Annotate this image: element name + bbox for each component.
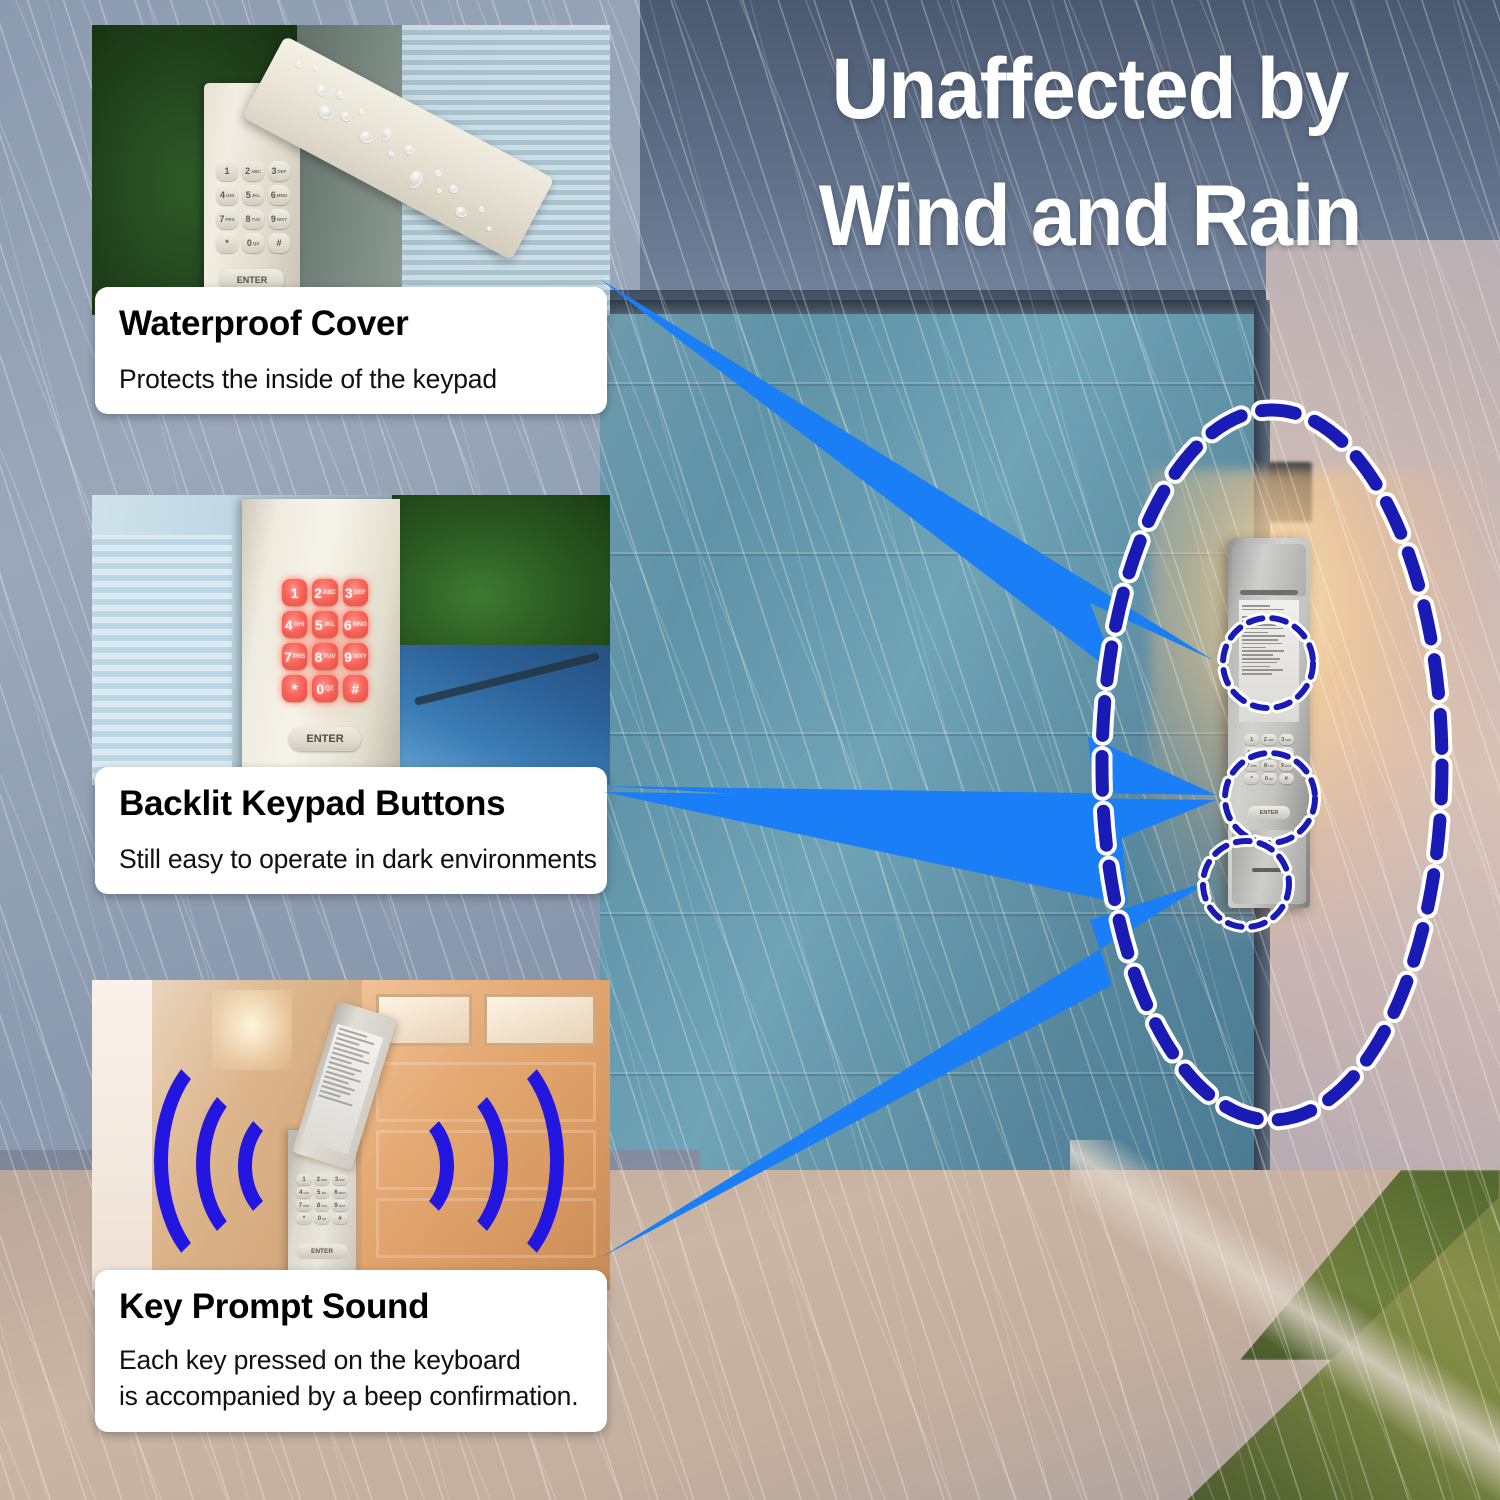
keypad-key-1: 1 [1244,734,1259,745]
hero-keypad-lower-housing [1232,830,1306,904]
background-garage-door [92,535,232,785]
headline-line-2: Wind and Rain [727,153,1452,280]
feature-card-backlit-keypad: Backlit Keypad Buttons Still easy to ope… [95,767,607,894]
hero-keypad-keys: 12ABC3DEF4GHI5JKL6MNO7PRS8TUV9WXY*0QZ# [1244,734,1294,784]
keypad-key-7: 7PRS [1244,760,1259,771]
garage-frame-top [596,300,1270,314]
marketing-image: Unaffected by Wind and Rain [0,0,1500,1500]
feature-title: Key Prompt Sound [119,1286,607,1328]
keypad-keys-backlit: 12ABC3DEF4GHI5JKL6MNO7PRS8TUV9WXY*0QZ# [282,579,368,702]
keypad-key-8: 8TUV [242,209,264,229]
keypad-key-hash: # [268,233,290,253]
keypad-key-7: 7PRS [296,1200,312,1211]
keypad-key-3: 3DEF [332,1174,348,1185]
curb-edge [1070,1140,1500,1500]
keypad-key-5: 5JKL [314,1187,330,1198]
keypad-key-star: * [1244,773,1259,784]
keypad-key-8: 8TUV [1261,760,1276,771]
keypad-key-1: 1 [282,579,307,606]
keypad-key-6: 6MNO [343,611,368,638]
enter-key: ENTER [296,1244,348,1259]
keypad-keys: 12ABC3DEF4GHI5JKL6MNO7PRS8TUV9WXY*0QZ# [216,161,290,253]
keypad-key-6: 6MNO [1279,747,1294,758]
background-car-windshield [392,645,610,785]
keypad-key-9: 9WXY [268,209,290,229]
feature-photo-waterproof-cover: 12ABC3DEF4GHI5JKL6MNO7PRS8TUV9WXY*0QZ# E… [92,25,610,315]
hero-enter-key: ENTER [1248,806,1290,819]
keypad-key-8: 8TUV [314,1200,330,1211]
keypad-key-star: * [296,1213,312,1224]
keypad-key-5: 5JKL [1261,747,1276,758]
keypad-key-1: 1 [296,1174,312,1185]
keypad-key-7: 7PRS [282,643,307,670]
feature-card-waterproof-cover: Waterproof Cover Protects the inside of … [95,287,607,414]
feature-photo-key-prompt-sound: 12ABC3DEF4GHI5JKL6MNO7PRS8TUV9WXY*0QZ# [92,980,610,1290]
keypad-key-8: 8TUV [312,643,337,670]
keypad-key-0: 0QZ [242,233,264,253]
feature-block-backlit-keypad: 12ABC3DEF4GHI5JKL6MNO7PRS8TUV9WXY*0QZ# E… [92,495,610,785]
keypad-key-star: * [216,233,238,253]
keypad-key-9: 9WXY [332,1200,348,1211]
keypad-key-6: 6MNO [332,1187,348,1198]
keypad-key-4: 4GHI [282,611,307,638]
feature-photo-backlit-keypad: 12ABC3DEF4GHI5JKL6MNO7PRS8TUV9WXY*0QZ# E… [92,495,610,785]
keypad-key-5: 5JKL [242,185,264,205]
keypad-key-5: 5JKL [312,611,337,638]
keypad-key-hash: # [332,1213,348,1224]
keypad-key-2: 2ABC [314,1174,330,1185]
keypad-key-6: 6MNO [268,185,290,205]
feature-block-waterproof-cover: 12ABC3DEF4GHI5JKL6MNO7PRS8TUV9WXY*0QZ# E… [92,25,610,315]
keypad-key-4: 4GHI [1244,747,1259,758]
headline-line-1: Unaffected by [727,26,1452,153]
sound-wave-right-3 [364,1106,454,1226]
hero-keypad-cover [1232,544,1306,596]
keypad-key-9: 9WXY [1279,760,1294,771]
keypad-key-4: 4GHI [296,1187,312,1198]
keypad-key-hash: # [1279,773,1294,784]
feature-description: Protects the inside of the keypad [119,362,607,396]
keypad-key-0: 0QZ [314,1213,330,1224]
keypad-key-3: 3DEF [343,579,368,606]
feature-description-line-1: Each key pressed on the keyboard [119,1343,607,1377]
keypad-key-4: 4GHI [216,185,238,205]
keypad-key-3: 3DEF [1279,734,1294,745]
keypad-keys: 12ABC3DEF4GHI5JKL6MNO7PRS8TUV9WXY*0QZ# [296,1174,348,1224]
keypad-key-2: 2ABC [312,579,337,606]
keypad-key-1: 1 [216,161,238,181]
enter-key: ENTER [289,727,361,751]
keypad-key-9: 9WXY [343,643,368,670]
keypad-key-0: 0QZ [312,675,337,702]
feature-block-key-prompt-sound: 12ABC3DEF4GHI5JKL6MNO7PRS8TUV9WXY*0QZ# [92,980,610,1290]
keypad-key-hash: # [343,675,368,702]
keypad-key-2: 2ABC [1261,734,1276,745]
hero-beeper-vent [1252,868,1286,872]
keypad-key-3: 3DEF [268,161,290,181]
hero-cover-seam [1240,590,1298,595]
feature-title: Backlit Keypad Buttons [119,783,607,825]
background-left-wall [92,980,152,1290]
keypad-key-2: 2ABC [242,161,264,181]
keypad-key-0: 0QZ [1261,773,1276,784]
feature-card-key-prompt-sound: Key Prompt Sound Each key pressed on the… [95,1270,607,1432]
feature-title: Waterproof Cover [119,303,607,345]
hero-keypad-device: 12ABC3DEF4GHI5JKL6MNO7PRS8TUV9WXY*0QZ# E… [1228,538,1310,908]
hero-instruction-label [1239,600,1299,722]
headline: Unaffected by Wind and Rain [700,26,1480,281]
feature-description: Still easy to operate in dark environmen… [119,842,607,876]
lamp-glow [1150,470,1480,940]
keypad-key-star: * [282,675,307,702]
feature-description-line-2: is accompanied by a beep confirmation. [119,1379,607,1413]
keypad-key-7: 7PRS [216,209,238,229]
